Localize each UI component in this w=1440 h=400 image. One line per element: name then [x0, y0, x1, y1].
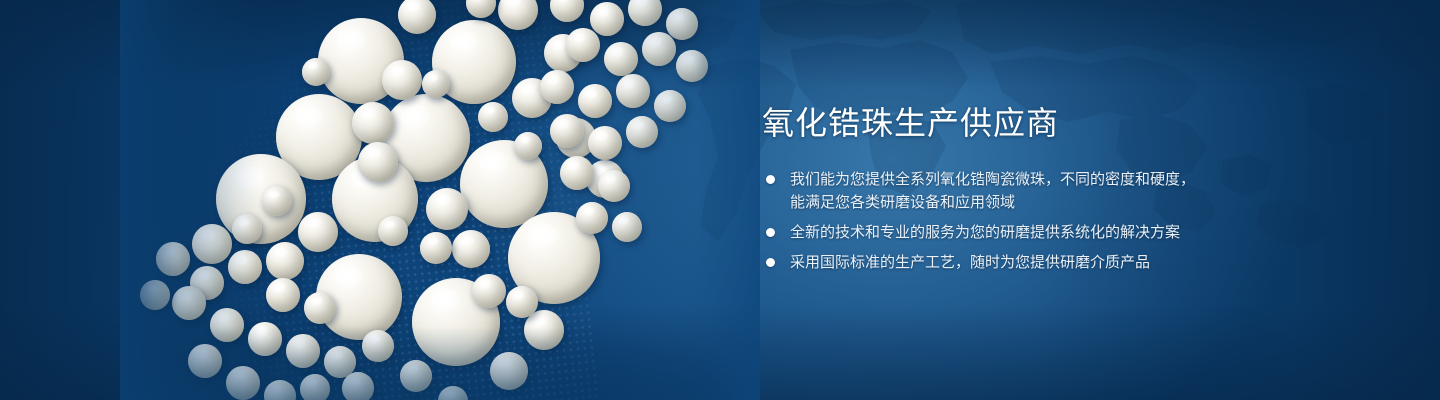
- bead: [490, 352, 528, 390]
- bead-cluster: [120, 0, 760, 400]
- bead: [588, 126, 622, 160]
- bead: [378, 216, 408, 246]
- bead: [264, 380, 296, 400]
- bead: [666, 8, 698, 40]
- bead: [566, 28, 600, 62]
- bead: [192, 224, 232, 264]
- bead: [226, 366, 260, 400]
- bead: [438, 386, 468, 400]
- bead: [398, 0, 436, 34]
- bead: [598, 170, 630, 202]
- bead: [382, 60, 422, 100]
- bead: [362, 330, 394, 362]
- bead: [616, 74, 650, 108]
- bead: [472, 274, 506, 308]
- bullet-dot-icon: [766, 175, 775, 184]
- bead: [604, 42, 638, 76]
- hero-banner: 氧化锆珠生产供应商 我们能为您提供全系列氧化锆陶瓷微珠，不同的密度和硬度， 能满…: [0, 0, 1440, 400]
- bead: [452, 230, 490, 268]
- bead: [550, 114, 584, 148]
- bead: [266, 278, 300, 312]
- bead: [626, 116, 658, 148]
- feature-list: 我们能为您提供全系列氧化锆陶瓷微珠，不同的密度和硬度， 能满足您各类研磨设备和应…: [762, 168, 1322, 274]
- bead: [342, 372, 374, 400]
- list-item: 我们能为您提供全系列氧化锆陶瓷微珠，不同的密度和硬度， 能满足您各类研磨设备和应…: [762, 168, 1322, 214]
- banner-copy: 氧化锆珠生产供应商 我们能为您提供全系列氧化锆陶瓷微珠，不同的密度和硬度， 能满…: [762, 104, 1322, 281]
- bead: [232, 214, 262, 244]
- bead: [420, 232, 452, 264]
- bullet-dot-icon: [766, 228, 775, 237]
- list-item: 采用国际标准的生产工艺，随时为您提供研磨介质产品: [762, 251, 1322, 274]
- bead: [654, 90, 686, 122]
- bead: [514, 132, 542, 160]
- bead: [304, 292, 336, 324]
- bead: [578, 84, 612, 118]
- bead: [210, 308, 244, 342]
- bead: [642, 32, 676, 66]
- bead: [188, 344, 222, 378]
- bead: [540, 70, 574, 104]
- bead: [302, 58, 330, 86]
- bead: [612, 212, 642, 242]
- bead: [228, 250, 262, 284]
- page-title: 氧化锆珠生产供应商: [762, 104, 1322, 142]
- list-item: 全新的技术和专业的服务为您的研磨提供系统化的解决方案: [762, 221, 1322, 244]
- bead: [358, 142, 398, 182]
- bead: [300, 374, 330, 400]
- bead: [262, 186, 292, 216]
- bead: [506, 286, 538, 318]
- bead: [478, 102, 508, 132]
- bead: [352, 102, 394, 144]
- bead: [140, 280, 170, 310]
- bead: [286, 334, 320, 368]
- bead: [628, 0, 662, 26]
- bead: [550, 0, 584, 22]
- bead: [422, 70, 450, 98]
- bead: [400, 360, 432, 392]
- list-item-line1: 采用国际标准的生产工艺，随时为您提供研磨介质产品: [790, 254, 1150, 271]
- list-item-line1: 我们能为您提供全系列氧化锆陶瓷微珠，不同的密度和硬度，: [790, 171, 1195, 188]
- bead: [426, 188, 468, 230]
- bead: [266, 242, 304, 280]
- bead: [248, 322, 282, 356]
- bead: [298, 212, 338, 252]
- bead: [524, 310, 564, 350]
- bead: [172, 286, 206, 320]
- bead: [156, 242, 190, 276]
- product-image-zirconia-beads: [120, 0, 760, 400]
- list-item-line1: 全新的技术和专业的服务为您的研磨提供系统化的解决方案: [790, 224, 1180, 241]
- bead: [676, 50, 708, 82]
- bullet-dot-icon: [766, 258, 775, 267]
- list-item-line2: 能满足您各类研磨设备和应用领域: [790, 191, 1322, 214]
- bead: [590, 2, 624, 36]
- bead: [498, 0, 538, 30]
- bead: [466, 0, 496, 18]
- bead: [560, 156, 594, 190]
- bead: [576, 202, 608, 234]
